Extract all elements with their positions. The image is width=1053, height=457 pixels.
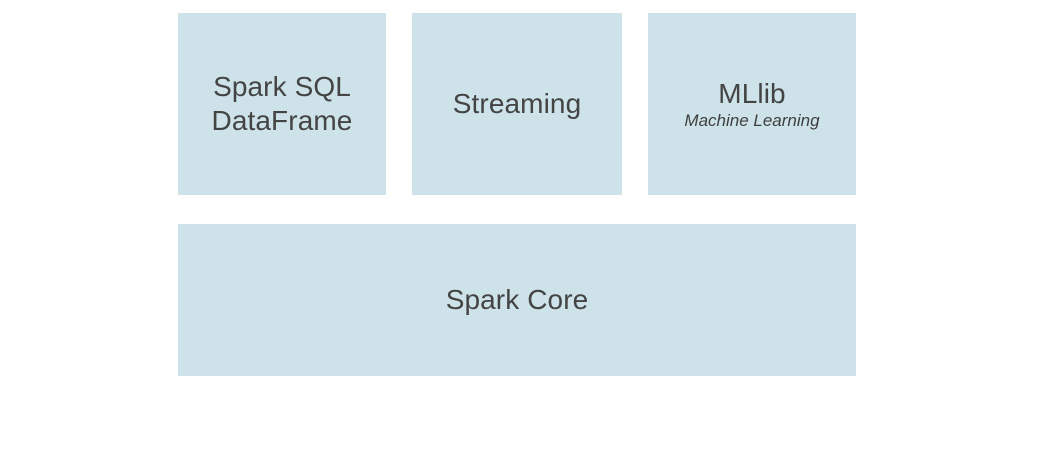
box-mllib-title: MLlib (718, 77, 785, 110)
box-spark-sql-title-line-1: Spark SQL (213, 70, 351, 104)
diagram-box-spark-core[interactable]: Spark Core (178, 224, 856, 376)
box-spark-core-title: Spark Core (446, 283, 589, 316)
spark-stack-diagram: Spark SQL DataFrame Streaming MLlib Mach… (0, 0, 1053, 457)
diagram-box-mllib[interactable]: MLlib Machine Learning (648, 13, 856, 195)
diagram-box-streaming[interactable]: Streaming (412, 13, 622, 195)
diagram-box-spark-sql[interactable]: Spark SQL DataFrame (178, 13, 386, 195)
box-streaming-title: Streaming (453, 87, 582, 120)
box-spark-sql-title-line-2: DataFrame (212, 104, 353, 138)
box-mllib-subtitle: Machine Learning (684, 111, 819, 131)
